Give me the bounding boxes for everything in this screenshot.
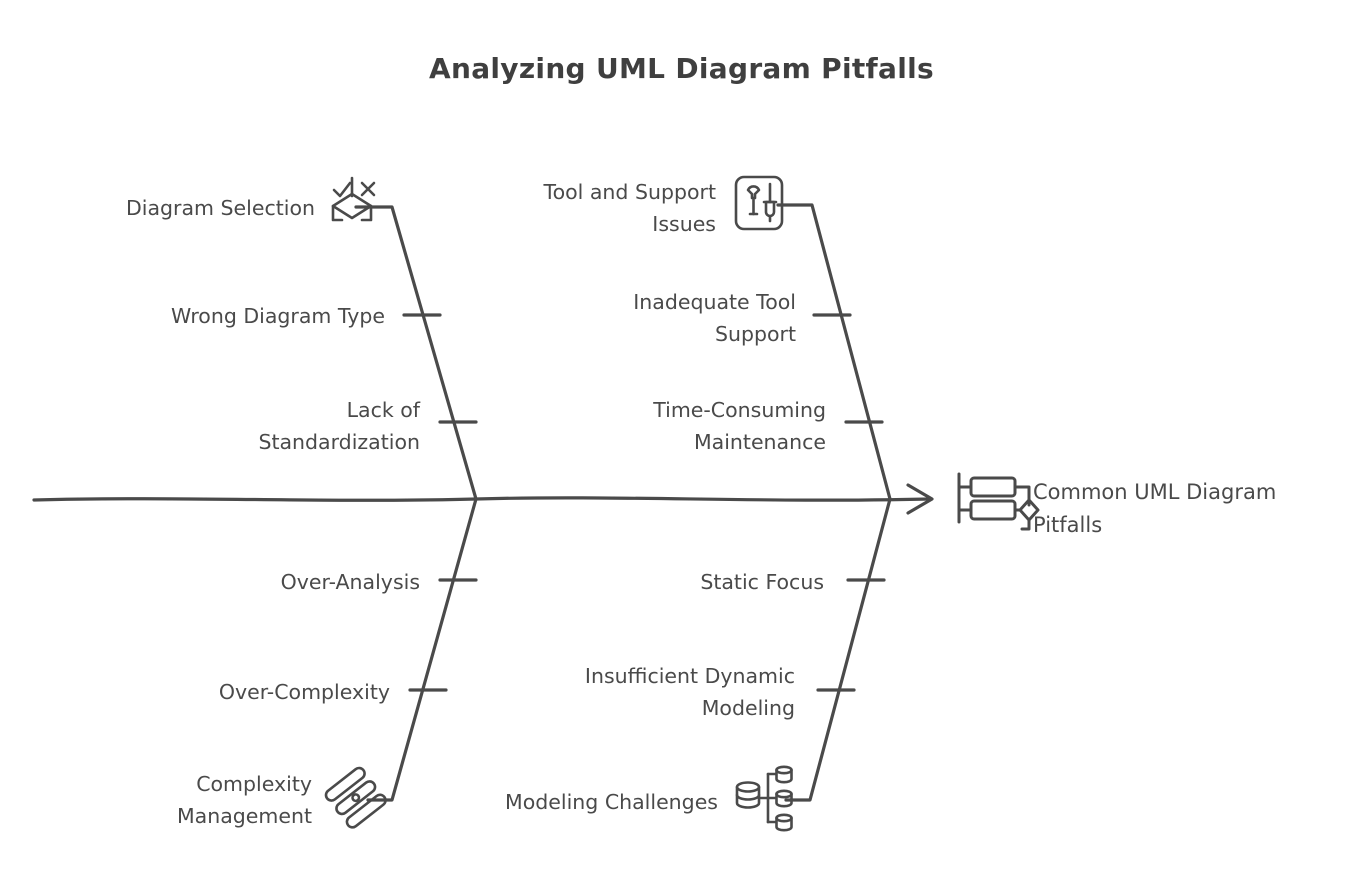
database-tree-icon bbox=[737, 767, 792, 830]
bone-bottom-left bbox=[368, 499, 476, 800]
cause-label-over-complexity: Over-Complexity bbox=[80, 676, 390, 708]
cause-label-lack-of-standardization: Lack of Standardization bbox=[60, 394, 420, 458]
decision-diamond-check-x-icon bbox=[333, 178, 374, 220]
bone-bottom-right bbox=[786, 499, 890, 800]
cause-label-insufficient-dynamic-modeling: Insufficient Dynamic Modeling bbox=[470, 660, 795, 724]
effect-label: Common UML Diagram Pitfalls bbox=[1033, 476, 1353, 542]
category-label-complexity-management: Complexity Management bbox=[60, 768, 312, 832]
cause-label-over-analysis: Over-Analysis bbox=[130, 566, 420, 598]
uml-flowchart-icon bbox=[959, 474, 1038, 529]
cause-label-time-consuming-maintenance: Time-Consuming Maintenance bbox=[500, 394, 826, 458]
cause-label-wrong-diagram-type: Wrong Diagram Type bbox=[60, 300, 385, 332]
wrench-screwdriver-box-icon bbox=[736, 177, 782, 229]
cause-label-inadequate-tool-support: Inadequate Tool Support bbox=[500, 286, 796, 350]
spine-line bbox=[34, 498, 930, 500]
category-label-diagram-selection: Diagram Selection bbox=[30, 192, 315, 224]
cause-label-static-focus: Static Focus bbox=[560, 566, 824, 598]
category-label-modeling-challenges: Modeling Challenges bbox=[400, 786, 718, 818]
stacked-layers-icon bbox=[324, 766, 388, 830]
page-title: Analyzing UML Diagram Pitfalls bbox=[0, 52, 1363, 85]
category-label-tool-and-support-issues: Tool and Support Issues bbox=[440, 176, 716, 240]
